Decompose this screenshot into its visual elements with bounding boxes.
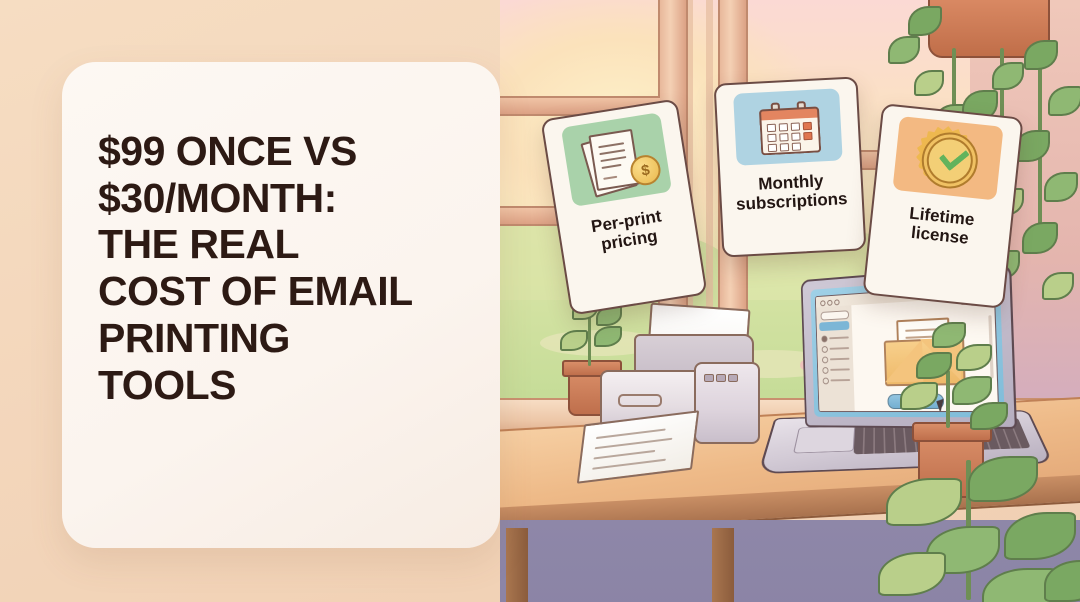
sidebar-item[interactable] bbox=[822, 366, 850, 373]
sidebar-item[interactable] bbox=[821, 334, 849, 341]
window-dot-minimize[interactable] bbox=[827, 299, 832, 305]
printer-button bbox=[716, 374, 726, 382]
calendar-graphic bbox=[759, 101, 818, 154]
document-stack bbox=[582, 129, 636, 192]
calendar-cell bbox=[779, 133, 788, 141]
calendar-cell bbox=[780, 143, 789, 151]
calendar-cell bbox=[791, 132, 800, 140]
sidebar-item-label bbox=[830, 368, 850, 370]
calendar-cell-highlighted bbox=[803, 132, 812, 140]
sheet-text-line bbox=[592, 459, 666, 470]
plant-leaf bbox=[1044, 560, 1080, 602]
printer-output-slot bbox=[618, 394, 662, 407]
page-title: $99 ONCE VS $30/MONTH: THE REAL COST OF … bbox=[98, 128, 482, 408]
radio-icon[interactable] bbox=[823, 378, 829, 385]
calendar-cell bbox=[767, 134, 776, 142]
radio-icon[interactable] bbox=[821, 336, 827, 343]
document-signature bbox=[603, 176, 617, 180]
calendar-cell bbox=[768, 144, 777, 152]
card-monthly-subscriptions[interactable]: Monthly subscriptions bbox=[714, 76, 867, 257]
radio-icon[interactable] bbox=[822, 346, 828, 353]
illustration-canvas: – □ ✕ bbox=[0, 0, 1080, 602]
document-line bbox=[599, 149, 625, 155]
calendar-cell bbox=[791, 122, 800, 130]
sidebar-item-label bbox=[830, 358, 850, 361]
radio-icon[interactable] bbox=[822, 367, 828, 374]
sidebar-item-label bbox=[831, 379, 851, 381]
sidebar-item[interactable] bbox=[822, 345, 850, 352]
sheet-text-line bbox=[595, 438, 673, 450]
card-lifetime-license[interactable]: Lifetime license bbox=[862, 103, 1023, 309]
app-sidebar bbox=[816, 305, 856, 411]
card-label-lifetime-license: Lifetime license bbox=[878, 201, 1003, 252]
sidebar-item-selected[interactable] bbox=[819, 321, 849, 331]
sidebar-item[interactable] bbox=[823, 377, 851, 383]
foreground-foliage bbox=[896, 420, 1080, 602]
calendar-body bbox=[760, 117, 822, 155]
calendar-cell bbox=[779, 123, 788, 131]
check-mark-icon bbox=[939, 142, 970, 172]
document-line bbox=[601, 164, 621, 169]
document-line bbox=[600, 156, 626, 162]
calendar-icon bbox=[733, 88, 843, 165]
document-line bbox=[598, 142, 624, 148]
card-label-per-print-pricing: Per-print pricing bbox=[567, 203, 690, 259]
printer bbox=[596, 318, 756, 448]
badge-graphic bbox=[916, 126, 980, 190]
radio-icon[interactable] bbox=[822, 357, 828, 364]
search-input[interactable] bbox=[821, 310, 849, 320]
printer-button bbox=[704, 374, 714, 382]
plant-leaf bbox=[886, 478, 962, 526]
desk-leg bbox=[506, 528, 528, 602]
sheet-text-line bbox=[593, 450, 655, 460]
plant-leaf bbox=[1004, 512, 1076, 560]
window-dot-close[interactable] bbox=[820, 300, 825, 306]
desk-leg bbox=[712, 528, 734, 602]
card-label-monthly-subscriptions: Monthly subscriptions bbox=[728, 170, 854, 215]
sidebar-item-label bbox=[830, 347, 850, 350]
calendar-cell bbox=[767, 124, 776, 132]
sheet-text-line bbox=[596, 428, 666, 439]
plant-leaf bbox=[968, 456, 1038, 502]
laptop-trackpad[interactable] bbox=[793, 426, 855, 454]
badge-check-icon bbox=[892, 116, 1003, 200]
calendar-cell-highlighted bbox=[803, 122, 812, 130]
sidebar-item-label bbox=[829, 336, 849, 339]
calendar-cell bbox=[792, 142, 801, 150]
headline-card: $99 ONCE VS $30/MONTH: THE REAL COST OF … bbox=[62, 62, 500, 548]
window-dot-maximize[interactable] bbox=[834, 299, 839, 305]
sidebar-item[interactable] bbox=[822, 356, 850, 363]
document-coin-icon: $ bbox=[561, 112, 672, 207]
printer-button bbox=[728, 374, 738, 382]
